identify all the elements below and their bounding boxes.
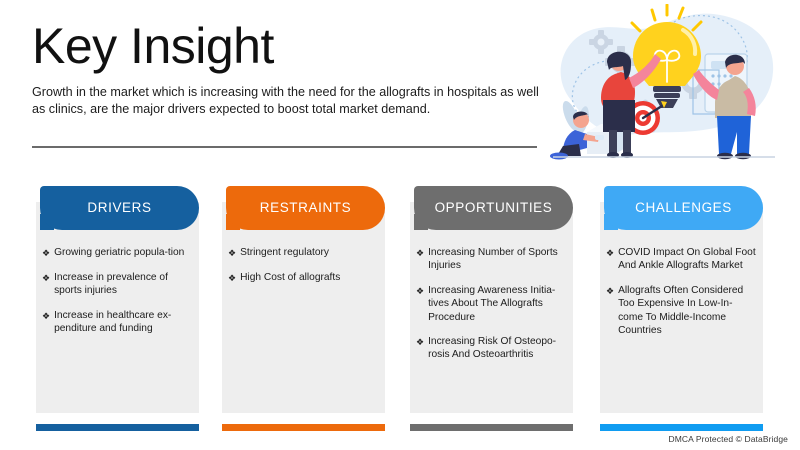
- card-accent-bar-restraints: [222, 424, 385, 431]
- bullet-text: Increasing Risk Of Osteopo-rosis And Ost…: [428, 335, 566, 362]
- list-item: ❖Increase in healthcare ex-penditure and…: [42, 309, 192, 336]
- diamond-bullet-icon: ❖: [228, 271, 236, 285]
- card-header-opportunities[interactable]: OPPORTUNITIES: [414, 186, 573, 230]
- card-title-challenges: CHALLENGES: [635, 200, 732, 215]
- diamond-bullet-icon: ❖: [42, 246, 50, 260]
- list-item: ❖Stringent regulatory: [228, 246, 378, 260]
- card-bullet-list-restraints: ❖Stringent regulatory❖High Cost of allog…: [222, 246, 385, 296]
- card-accent-bar-drivers: [36, 424, 199, 431]
- diamond-bullet-icon: ❖: [416, 246, 424, 260]
- footer-attribution: DMCA Protected © DataBridge: [668, 434, 788, 444]
- insight-card-opportunities: OPPORTUNITIES❖Increasing Number of Sport…: [410, 186, 573, 431]
- bullet-text: Allografts Often Considered Too Expensiv…: [618, 284, 756, 338]
- bullet-text: Increasing Number of Sports Injuries: [428, 246, 566, 273]
- card-accent-bar-opportunities: [410, 424, 573, 431]
- insight-card-drivers: DRIVERS❖Growing geriatric popula-tion❖In…: [36, 186, 199, 431]
- header-block: Key Insight Growth in the market which i…: [32, 16, 552, 118]
- card-body-restraints: [222, 202, 385, 413]
- bullet-text: Stringent regulatory: [240, 246, 329, 259]
- bullet-text: COVID Impact On Global Foot And Ankle Al…: [618, 246, 756, 273]
- card-bullet-list-drivers: ❖Growing geriatric popula-tion❖Increase …: [36, 246, 199, 347]
- list-item: ❖Increase in prevalence of sports injuri…: [42, 271, 192, 298]
- card-title-restraints: RESTRAINTS: [260, 200, 352, 215]
- card-header-restraints[interactable]: RESTRAINTS: [226, 186, 385, 230]
- page-subtitle: Growth in the market which is increasing…: [32, 84, 540, 118]
- bullet-text: Increase in healthcare ex-penditure and …: [54, 309, 192, 336]
- card-title-opportunities: OPPORTUNITIES: [435, 200, 553, 215]
- insight-card-restraints: RESTRAINTS❖Stringent regulatory❖High Cos…: [222, 186, 385, 431]
- diamond-bullet-icon: ❖: [416, 335, 424, 349]
- insight-cards-row: DRIVERS❖Growing geriatric popula-tion❖In…: [0, 186, 800, 431]
- list-item: ❖High Cost of allografts: [228, 271, 378, 285]
- page-title: Key Insight: [32, 16, 552, 76]
- card-bullet-list-challenges: ❖COVID Impact On Global Foot And Ankle A…: [600, 246, 763, 348]
- diamond-bullet-icon: ❖: [416, 284, 424, 298]
- diamond-bullet-icon: ❖: [42, 309, 50, 323]
- diamond-bullet-icon: ❖: [606, 284, 614, 298]
- list-item: ❖Growing geriatric popula-tion: [42, 246, 192, 260]
- list-item: ❖Increasing Risk Of Osteopo-rosis And Os…: [416, 335, 566, 362]
- diamond-bullet-icon: ❖: [42, 271, 50, 285]
- card-header-drivers[interactable]: DRIVERS: [40, 186, 199, 230]
- card-title-drivers: DRIVERS: [87, 200, 151, 215]
- diamond-bullet-icon: ❖: [606, 246, 614, 260]
- bullet-text: Growing geriatric popula-tion: [54, 246, 184, 259]
- idea-teamwork-lightbulb-illustration: [543, 4, 798, 162]
- title-divider: [32, 146, 537, 148]
- bullet-text: Increasing Awareness Initia-tives About …: [428, 284, 566, 324]
- bullet-text: Increase in prevalence of sports injurie…: [54, 271, 192, 298]
- list-item: ❖Increasing Awareness Initia-tives About…: [416, 284, 566, 324]
- list-item: ❖Increasing Number of Sports Injuries: [416, 246, 566, 273]
- card-header-challenges[interactable]: CHALLENGES: [604, 186, 763, 230]
- list-item: ❖COVID Impact On Global Foot And Ankle A…: [606, 246, 756, 273]
- list-item: ❖Allografts Often Considered Too Expensi…: [606, 284, 756, 338]
- diamond-bullet-icon: ❖: [228, 246, 236, 260]
- card-accent-bar-challenges: [600, 424, 763, 431]
- insight-card-challenges: CHALLENGES❖COVID Impact On Global Foot A…: [600, 186, 763, 431]
- card-bullet-list-opportunities: ❖Increasing Number of Sports Injuries❖In…: [410, 246, 573, 373]
- bullet-text: High Cost of allografts: [240, 271, 340, 284]
